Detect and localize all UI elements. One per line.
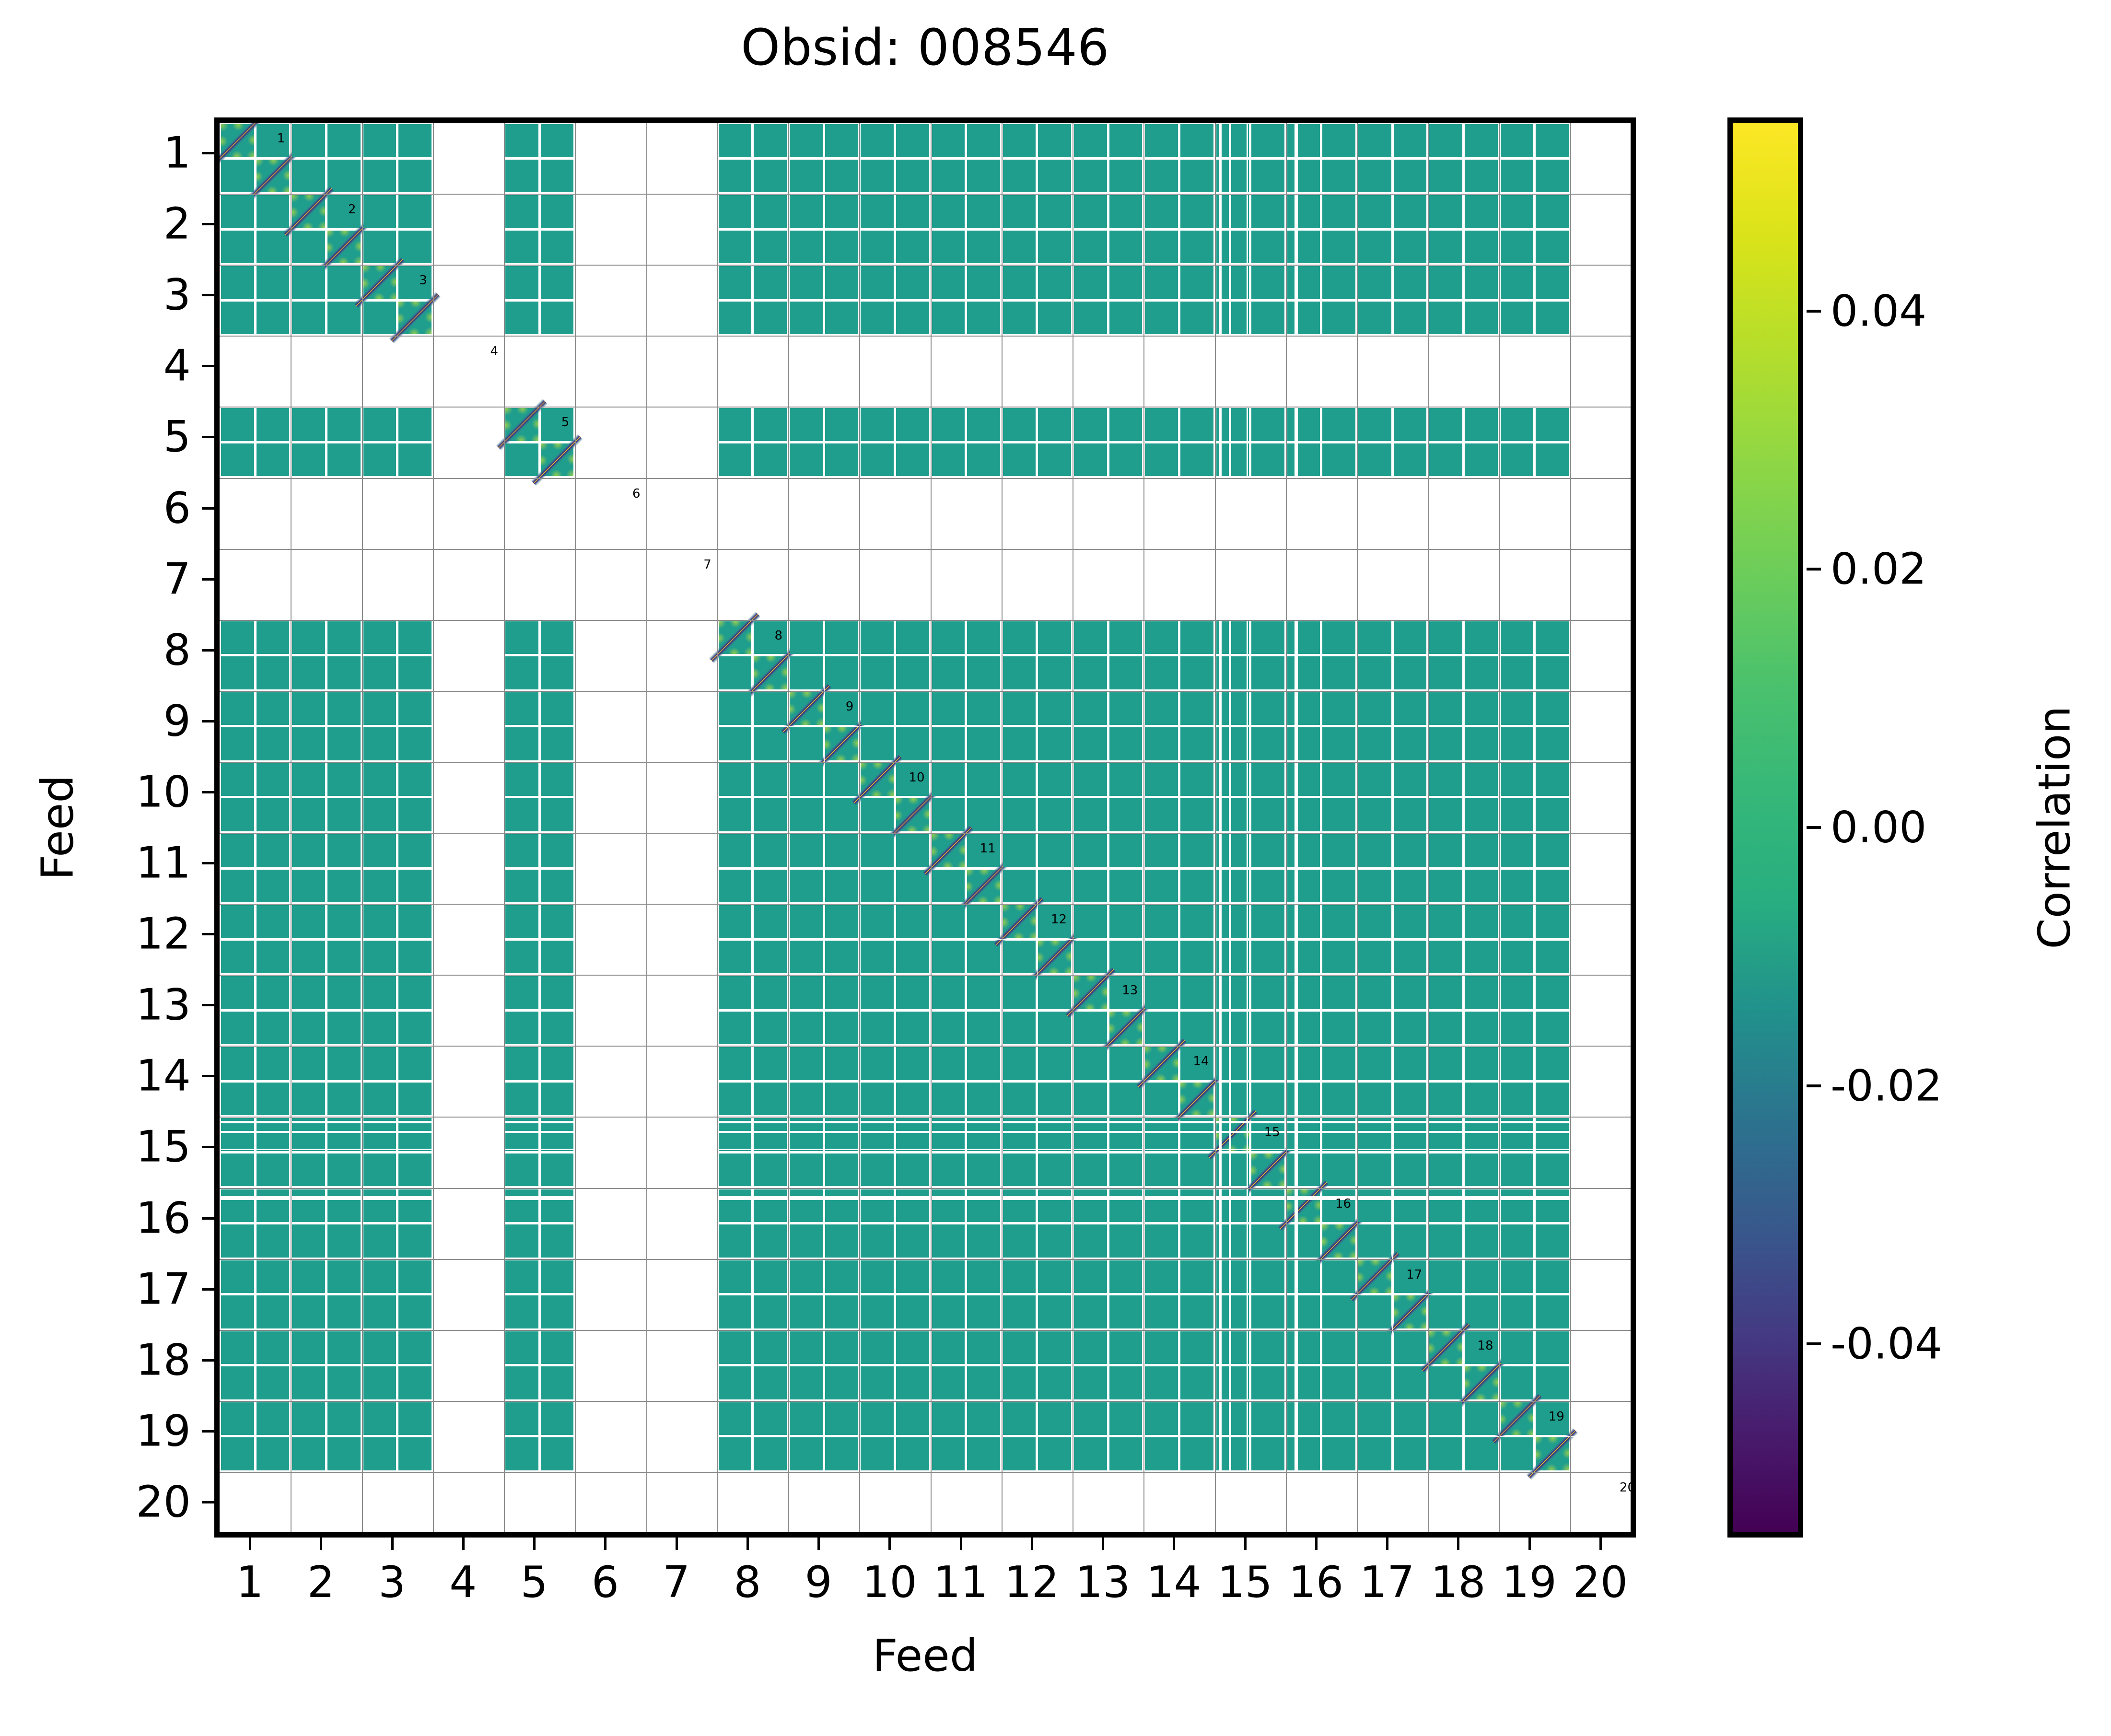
- feed-block-label: 16: [1335, 1197, 1351, 1211]
- feed-block-label: 9: [846, 699, 854, 714]
- feed-block-label: 4: [490, 344, 498, 359]
- y-axis-tick: [202, 365, 214, 367]
- feed-block-label: 13: [1122, 983, 1138, 998]
- x-axis-tick-label: 8: [734, 1557, 761, 1608]
- x-axis-tick-label: 20: [1573, 1557, 1628, 1608]
- page-title: Obsid: 008546: [214, 19, 1636, 77]
- feed-block-label: 1: [277, 131, 285, 146]
- x-axis-tick-label: 10: [862, 1557, 917, 1608]
- x-axis-tick: [676, 1538, 678, 1550]
- feed-block-label: 14: [1193, 1054, 1209, 1069]
- y-axis-tick-label: 16: [136, 1193, 191, 1243]
- x-axis-tick-label: 15: [1217, 1557, 1272, 1608]
- y-axis-tick: [202, 223, 214, 225]
- y-axis-tick-label: 5: [163, 412, 191, 462]
- x-axis-tick-label: 4: [449, 1557, 477, 1608]
- x-axis-tick-label: 19: [1502, 1557, 1557, 1608]
- colorbar-tick-label: 0.00: [1831, 803, 1926, 853]
- x-axis-tick-label: 9: [805, 1557, 832, 1608]
- feed-block-label: 20: [1620, 1480, 1635, 1495]
- y-axis-tick-label: 13: [136, 980, 191, 1030]
- feed-block-label: 10: [909, 770, 924, 785]
- x-axis-tick: [1315, 1538, 1318, 1550]
- x-axis-tick-label: 16: [1289, 1557, 1344, 1608]
- colorbar-tick: [1807, 568, 1821, 571]
- y-axis-tick-label: 8: [163, 625, 191, 675]
- y-axis-tick-label: 3: [163, 270, 191, 320]
- y-axis-tick: [202, 1430, 214, 1433]
- x-axis-tick-label: 5: [520, 1557, 548, 1608]
- y-axis-tick-label: 4: [163, 341, 191, 391]
- y-axis-tick-label: 14: [136, 1051, 191, 1101]
- y-axis-tick-label: 19: [136, 1406, 191, 1456]
- y-axis-tick: [202, 578, 214, 581]
- feed-block-label: 3: [419, 273, 427, 288]
- x-axis-tick: [1031, 1538, 1033, 1550]
- x-axis-tick: [960, 1538, 962, 1550]
- colorbar-tick-label: -0.04: [1831, 1319, 1942, 1369]
- x-axis-tick: [1102, 1538, 1104, 1550]
- y-axis-tick: [202, 933, 214, 935]
- x-axis-tick: [462, 1538, 465, 1550]
- y-axis-tick-label: 1: [163, 128, 191, 178]
- x-axis-tick-label: 6: [592, 1557, 619, 1608]
- x-axis-tick-label: 11: [933, 1557, 988, 1608]
- x-axis-tick: [1386, 1538, 1388, 1550]
- x-axis-tick-label: 2: [307, 1557, 335, 1608]
- y-axis-tick-label: 10: [136, 767, 191, 817]
- y-axis-tick: [202, 1146, 214, 1148]
- feed-block-label: 2: [348, 202, 356, 217]
- colorbar-tick-label: -0.02: [1831, 1060, 1942, 1111]
- x-axis-label: Feed: [214, 1630, 1636, 1681]
- x-axis-tick: [533, 1538, 536, 1550]
- colorbar-tick: [1807, 1084, 1821, 1087]
- x-axis-tick: [1244, 1538, 1247, 1550]
- x-axis-tick: [604, 1538, 606, 1550]
- feed-block-label: 15: [1264, 1125, 1280, 1140]
- x-axis-tick-label: 12: [1004, 1557, 1060, 1608]
- x-axis-tick: [888, 1538, 891, 1550]
- y-axis-tick-label: 12: [136, 909, 191, 959]
- x-axis-tick: [746, 1538, 749, 1550]
- heatmap-block-label-layer: 1234567891011121314151617181920: [220, 123, 1631, 1532]
- x-axis-tick: [1599, 1538, 1602, 1550]
- y-axis-tick-label: 2: [163, 199, 191, 249]
- y-axis-tick: [202, 436, 214, 438]
- x-axis-tick-label: 1: [236, 1557, 263, 1608]
- feed-block-label: 17: [1406, 1268, 1422, 1282]
- y-axis-tick-label: 15: [136, 1122, 191, 1172]
- feed-block-label: 5: [561, 415, 570, 430]
- y-axis-tick-label: 17: [136, 1264, 191, 1314]
- y-axis-tick: [202, 1075, 214, 1077]
- y-axis-label: Feed: [32, 775, 83, 880]
- y-axis-tick: [202, 1359, 214, 1362]
- x-axis-tick: [249, 1538, 251, 1550]
- y-axis-tick-label: 7: [163, 554, 191, 604]
- x-axis-tick-label: 17: [1360, 1557, 1415, 1608]
- y-axis-tick: [202, 791, 214, 793]
- y-axis-tick: [202, 862, 214, 864]
- colorbar[interactable]: [1727, 117, 1803, 1538]
- x-axis-tick: [320, 1538, 322, 1550]
- y-axis-tick: [202, 1501, 214, 1503]
- y-axis-tick: [202, 507, 214, 510]
- x-axis-tick: [817, 1538, 820, 1550]
- colorbar-tick-label: 0.02: [1831, 544, 1926, 594]
- y-axis-tick-label: 9: [163, 696, 191, 746]
- y-axis-tick: [202, 1004, 214, 1006]
- colorbar-label: Correlation: [2029, 706, 2080, 949]
- x-axis-tick-label: 14: [1146, 1557, 1201, 1608]
- y-axis-tick: [202, 152, 214, 154]
- feed-block-label: 12: [1051, 912, 1067, 927]
- colorbar-tick: [1807, 310, 1821, 313]
- feed-block-label: 11: [980, 841, 996, 856]
- feed-block-label: 6: [632, 487, 641, 501]
- x-axis-tick-label: 13: [1075, 1557, 1131, 1608]
- feed-block-label: 19: [1549, 1410, 1564, 1424]
- x-axis-tick: [1457, 1538, 1459, 1550]
- y-axis-tick-label: 18: [136, 1335, 191, 1385]
- feed-block-label: 7: [703, 558, 711, 572]
- colorbar-tick: [1807, 826, 1821, 829]
- x-axis-tick: [1528, 1538, 1531, 1550]
- y-axis-tick: [202, 1217, 214, 1220]
- colorbar-tick: [1807, 1342, 1821, 1345]
- colorbar-tick-label: 0.04: [1831, 286, 1926, 336]
- y-axis-tick-label: 11: [136, 838, 191, 888]
- x-axis-tick: [391, 1538, 394, 1550]
- feed-block-label: 18: [1477, 1339, 1493, 1353]
- heatmap-axes[interactable]: 1234567891011121314151617181920: [214, 117, 1636, 1538]
- x-axis-tick-label: 18: [1431, 1557, 1486, 1608]
- figure-canvas: Obsid: 008546 12345678910111213141516171…: [0, 0, 2111, 1736]
- y-axis-tick: [202, 720, 214, 722]
- y-axis-tick-label: 20: [136, 1477, 191, 1527]
- y-axis-tick: [202, 649, 214, 652]
- x-axis-tick-label: 7: [663, 1557, 690, 1608]
- y-axis-tick: [202, 1288, 214, 1291]
- x-axis-tick-label: 3: [378, 1557, 406, 1608]
- x-axis-tick: [1173, 1538, 1175, 1550]
- y-axis-tick: [202, 294, 214, 296]
- y-axis-tick-label: 6: [163, 483, 191, 533]
- feed-block-label: 8: [774, 629, 782, 643]
